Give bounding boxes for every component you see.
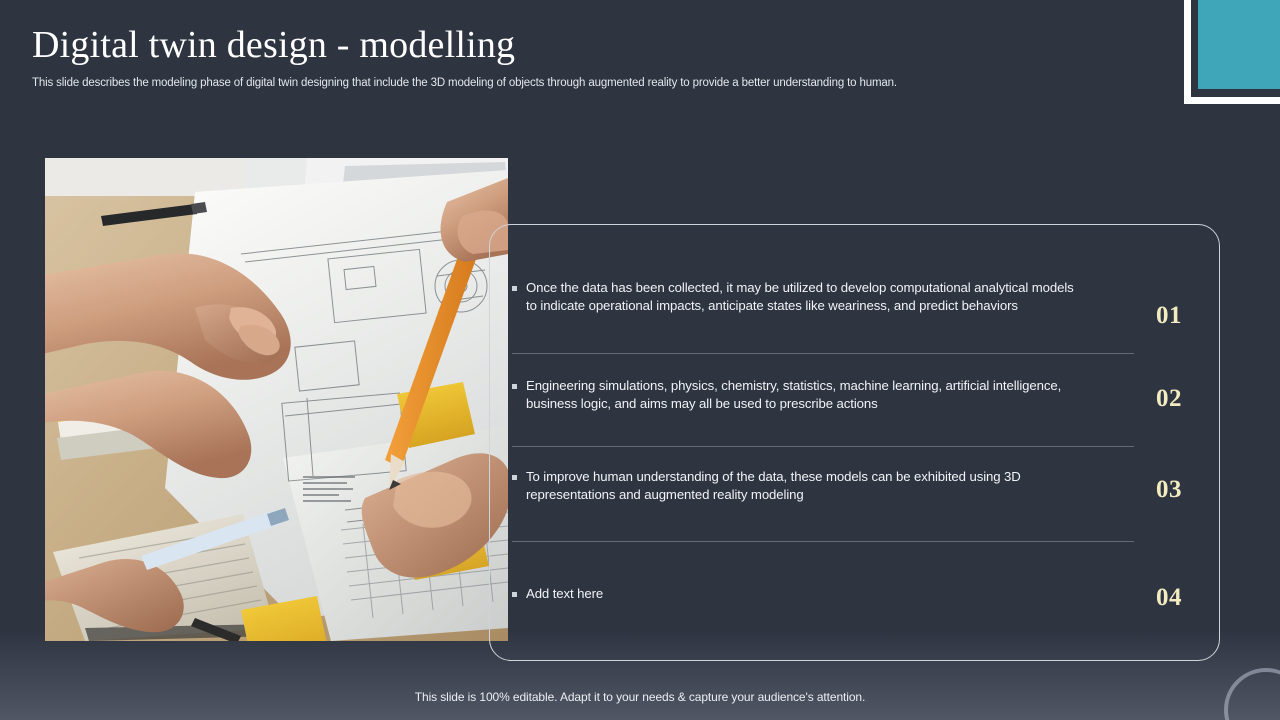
bullet-square-icon xyxy=(512,384,517,389)
corner-teal-square xyxy=(1198,0,1280,89)
list-item[interactable]: Add text here 04 xyxy=(490,541,1219,636)
content-rows: Once the data has been collected, it may… xyxy=(490,243,1219,660)
list-item-number: 03 xyxy=(1133,446,1205,504)
page-title: Digital twin design - modelling xyxy=(32,24,1160,68)
list-item[interactable]: Once the data has been collected, it may… xyxy=(490,243,1219,353)
bullet-square-icon xyxy=(512,286,517,291)
list-item-text: Once the data has been collected, it may… xyxy=(526,279,1086,315)
list-item-text: To improve human understanding of the da… xyxy=(526,468,1086,504)
row-divider xyxy=(512,541,1134,542)
list-item-text: Add text here xyxy=(526,585,603,603)
bullet-square-icon xyxy=(512,592,517,597)
list-item-number: 04 xyxy=(1133,541,1205,612)
page-subtitle: This slide describes the modeling phase … xyxy=(32,77,1160,89)
footer-note: This slide is 100% editable. Adapt it to… xyxy=(0,690,1280,704)
slide-header: Digital twin design - modelling This sli… xyxy=(32,24,1160,89)
blueprint-photo-illustration xyxy=(45,158,508,641)
row-divider xyxy=(512,353,1134,354)
list-item[interactable]: Engineering simulations, physics, chemis… xyxy=(490,353,1219,446)
blueprint-photo xyxy=(45,158,508,641)
row-divider xyxy=(512,446,1134,447)
list-item-content: To improve human understanding of the da… xyxy=(512,446,1133,504)
list-item-content: Once the data has been collected, it may… xyxy=(512,243,1133,315)
list-item-content: Add text here xyxy=(512,541,1133,603)
list-item-content: Engineering simulations, physics, chemis… xyxy=(512,353,1133,413)
list-item[interactable]: To improve human understanding of the da… xyxy=(490,446,1219,541)
list-item-text: Engineering simulations, physics, chemis… xyxy=(526,377,1086,413)
list-item-number: 02 xyxy=(1133,353,1205,413)
content-panel: Once the data has been collected, it may… xyxy=(489,224,1220,661)
list-item-number: 01 xyxy=(1133,243,1205,330)
bullet-square-icon xyxy=(512,475,517,480)
